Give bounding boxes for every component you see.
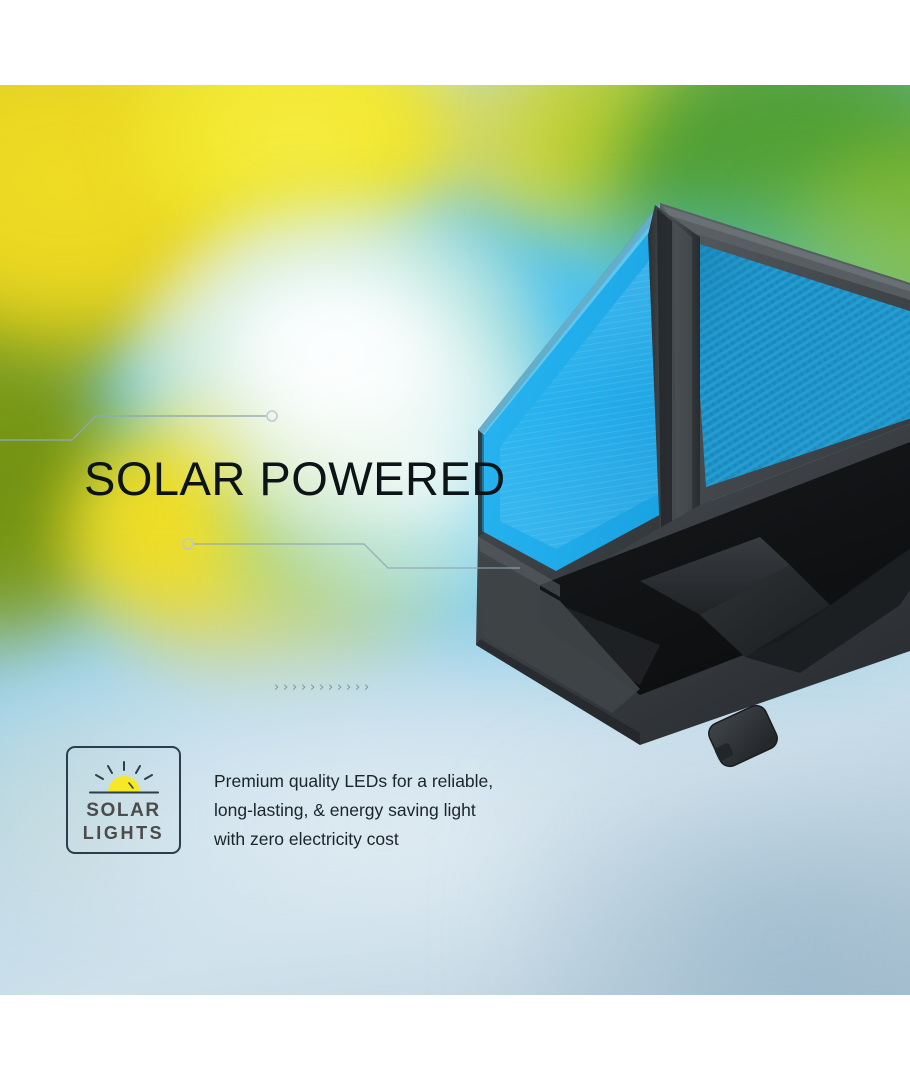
feature-line-3: with zero electricity cost xyxy=(214,825,493,854)
chevron-icon: › xyxy=(319,681,327,694)
page-title: SOLAR POWERED xyxy=(84,451,506,506)
chevron-icon: › xyxy=(364,681,372,694)
badge-word-lights: LIGHTS xyxy=(83,822,165,845)
product-banner: ››››››››››› SOLAR POWERED xyxy=(0,0,910,1080)
chevron-icon: › xyxy=(328,681,336,694)
feature-description: Premium quality LEDs for a reliable, lon… xyxy=(214,767,493,854)
lower-haze-right xyxy=(520,775,910,995)
photo-area: ››››››››››› SOLAR POWERED xyxy=(0,85,910,995)
badge-word-solar: SOLAR xyxy=(86,799,161,822)
chevron-icon: › xyxy=(301,681,309,694)
feature-line-2: long-lasting, & energy saving light xyxy=(214,796,493,825)
chevron-icon: › xyxy=(292,681,300,694)
feature-line-1: Premium quality LEDs for a reliable, xyxy=(214,767,493,796)
chevron-icon: › xyxy=(355,681,363,694)
chevron-icon: › xyxy=(310,681,318,694)
chevron-icon: › xyxy=(346,681,354,694)
chevron-icon: › xyxy=(283,681,291,694)
feature-block: SOLAR LIGHTS Premium quality LEDs for a … xyxy=(66,746,493,854)
chevron-icon: › xyxy=(337,681,345,694)
solar-lights-badge: SOLAR LIGHTS xyxy=(66,746,181,854)
chevron-icon: › xyxy=(274,681,282,694)
chevron-arrow-run: ››››››››››› xyxy=(274,681,372,694)
half-sun-icon xyxy=(83,761,165,799)
